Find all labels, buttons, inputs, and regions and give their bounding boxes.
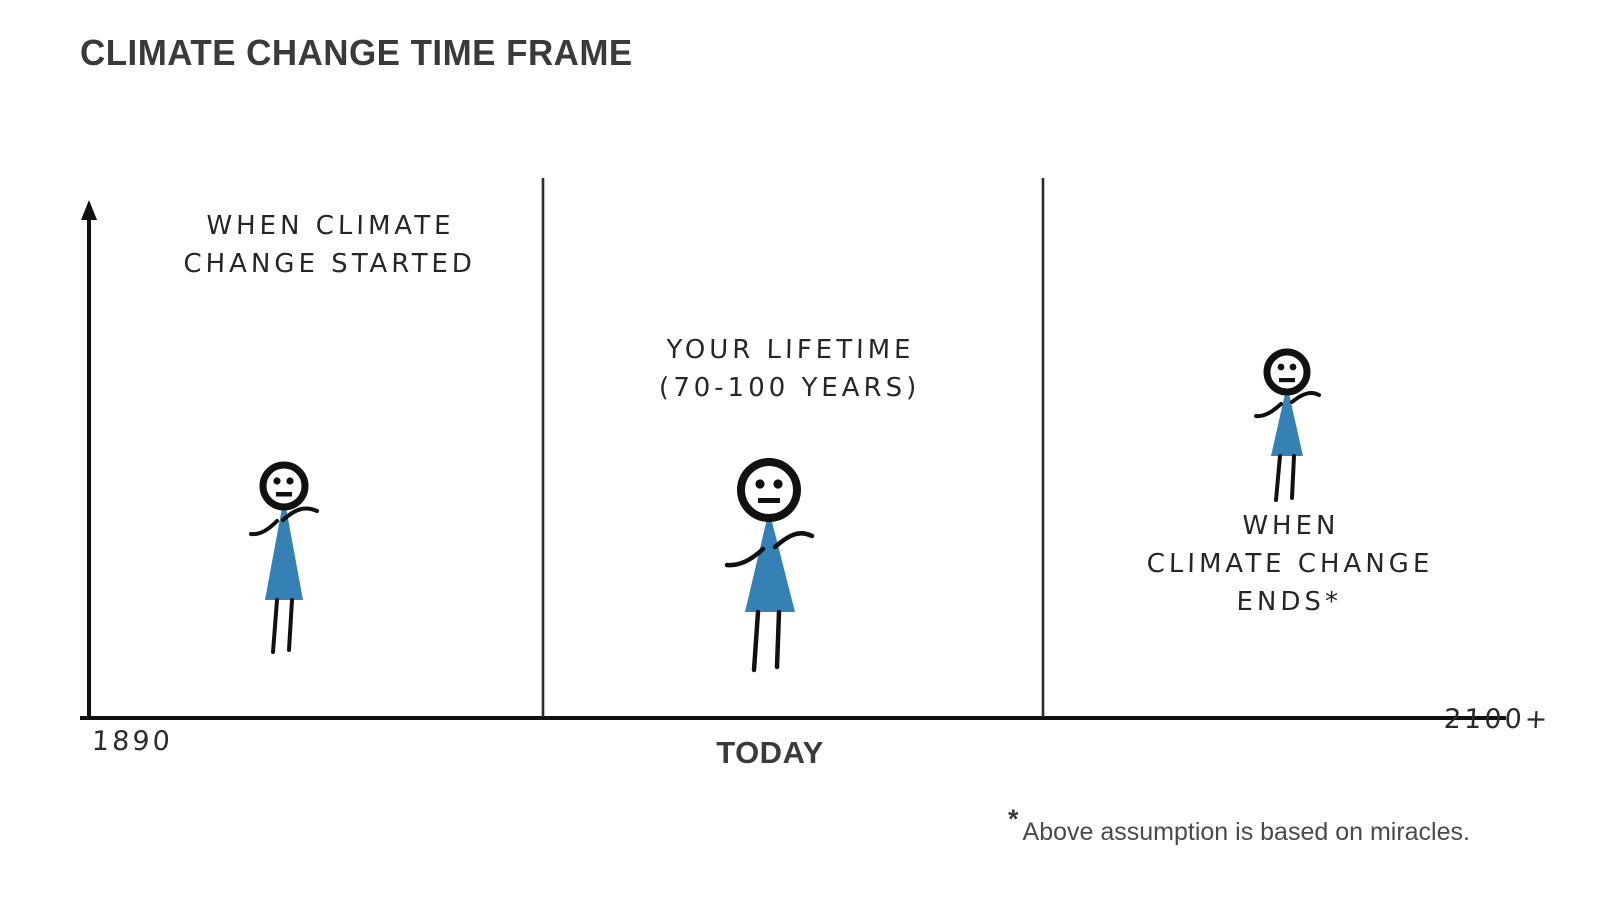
label-your-lifetime: YOUR LIFETIME (70-100 YEARS) [579,332,1001,408]
label-when-climate-change-ends: WHEN CLIMATE CHANGE ENDS* [1079,508,1501,622]
y-axis [81,200,97,718]
label-when-climate-change-started: WHEN CLIMATE CHANGE STARTED [119,208,541,284]
axis-label-start-year: 1890 [91,726,173,757]
footnote-text: Above assumption is based on miracles. [1023,820,1470,845]
stick-figure-past [251,465,317,652]
stick-figure-future [1256,352,1319,500]
footnote-asterisk: * [1008,806,1019,833]
infographic-canvas: CLIMATE CHANGE TIME FRAME [0,0,1600,900]
stick-figure-present [727,462,812,670]
axis-label-end-year: 2100+ [1443,704,1551,735]
axis-label-today: TODAY [700,735,840,771]
footnote: * Above assumption is based on miracles. [1008,804,1470,831]
